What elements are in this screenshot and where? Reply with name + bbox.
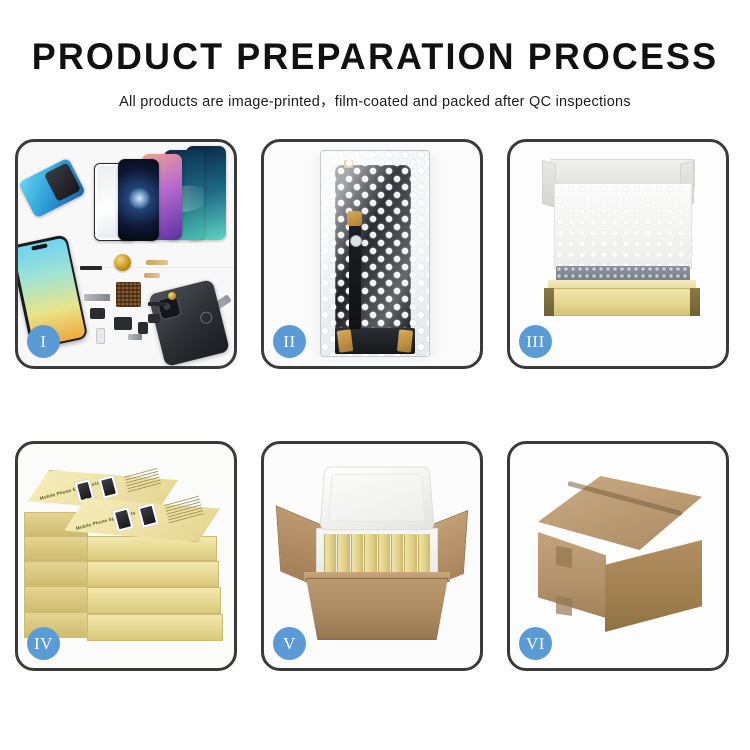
screw-plate-icon [128, 334, 142, 340]
antenna-strip-icon [80, 266, 102, 270]
button-part-icon [138, 322, 148, 334]
step-badge-2: II [273, 325, 306, 358]
phone-back-shell-icon [148, 279, 230, 367]
connector-left-icon [337, 329, 354, 353]
page-title: PRODUCT PREPARATION PROCESS [11, 38, 739, 75]
carton-tape-upper [556, 546, 572, 568]
inner-box [324, 534, 336, 574]
inner-box [404, 534, 416, 574]
speaker-ring-icon [199, 310, 214, 325]
camera-part-icon [90, 308, 105, 319]
carton-left-face [538, 532, 606, 618]
foam-sheet-icon [554, 183, 692, 269]
inner-boxes-row [324, 534, 430, 574]
carton-front-icon [306, 578, 448, 640]
flex-cable-small-icon [144, 273, 160, 278]
bag-sheen [321, 151, 429, 356]
phone-dark-wallpaper-icon [118, 159, 159, 241]
product-preparation-infographic: PRODUCT PREPARATION PROCESS All products… [0, 0, 750, 750]
inner-box [391, 534, 403, 574]
step-badge-4: IV [27, 627, 60, 660]
header: PRODUCT PREPARATION PROCESS All products… [0, 0, 750, 111]
sensor-icon [148, 314, 160, 323]
ribbon-icon [148, 302, 166, 306]
process-step-4: Mobile Phone Spare Parts Mobile Phone Sp… [15, 441, 237, 671]
box-edge [24, 586, 88, 612]
phone-cyan-tilted-icon [18, 157, 86, 218]
process-step-grid: I II [15, 139, 735, 684]
step-badge-5: V [273, 627, 306, 660]
box-edge [24, 536, 88, 561]
carton-tape-lower [556, 596, 572, 616]
screw-icon [168, 292, 176, 300]
vibration-motor-icon [114, 254, 131, 271]
flex-cable-icon [146, 260, 168, 265]
process-step-6: VI [507, 441, 729, 671]
inner-box [418, 534, 430, 574]
carton-right-face [605, 540, 702, 632]
display-flex-cable-icon [349, 225, 361, 329]
inner-box [351, 534, 363, 574]
box-front [87, 614, 223, 641]
step-badge-6: VI [519, 627, 552, 660]
yellow-box-front-icon [544, 288, 700, 316]
foam-box-lid-icon [319, 467, 434, 531]
step-badge-3: III [519, 325, 552, 358]
connector-right-icon [397, 329, 413, 352]
process-step-5: V [261, 441, 483, 671]
metal-bracket-icon [84, 294, 110, 301]
inner-box [378, 534, 390, 574]
box-front [87, 561, 219, 587]
process-step-1: I [15, 139, 237, 369]
bubble-wrap-bag-icon [320, 150, 430, 357]
process-step-3: III [507, 139, 729, 369]
taptic-engine-icon [114, 317, 132, 330]
step-badge-1: I [27, 325, 60, 358]
box-edge [24, 561, 88, 586]
page-subtitle: All products are image-printed，film-coat… [0, 90, 750, 111]
inner-box [337, 534, 349, 574]
box-front [87, 587, 221, 614]
sim-tray-icon [96, 328, 105, 344]
logic-board-icon [116, 282, 141, 307]
inner-box [364, 534, 376, 574]
process-step-2: II [261, 139, 483, 369]
